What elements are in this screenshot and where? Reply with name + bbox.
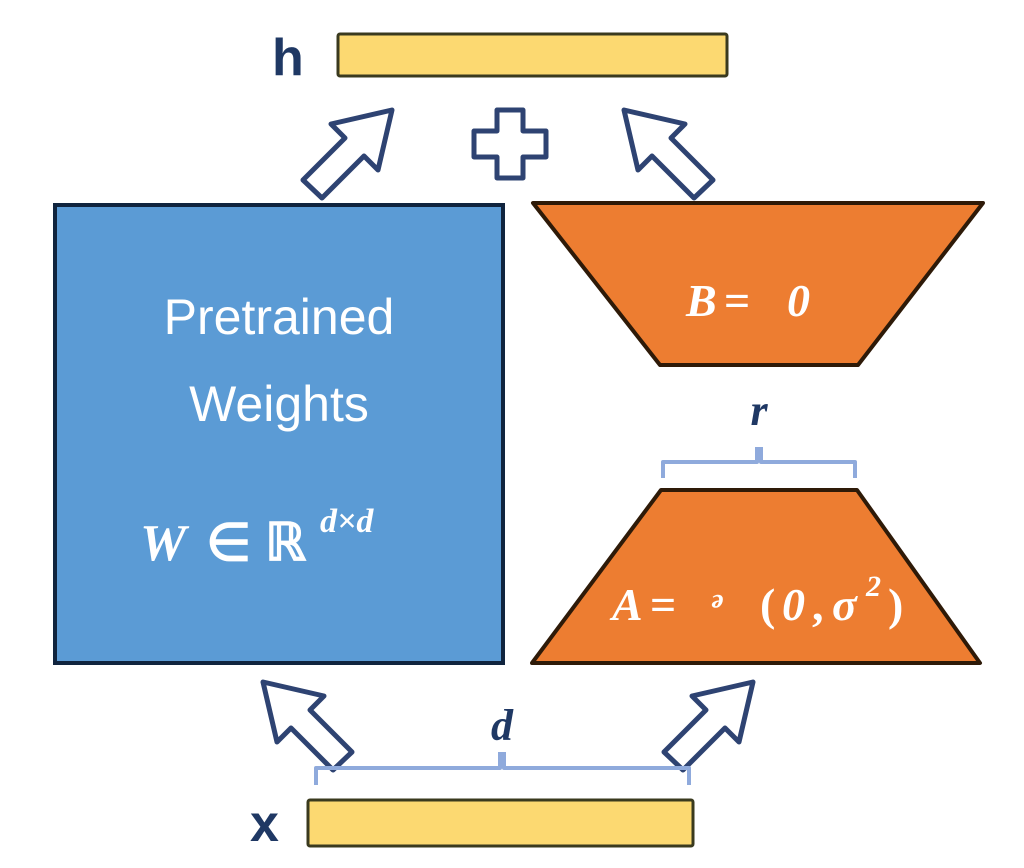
input-dimension-label: d <box>491 701 514 750</box>
arrow-input-to-a-icon <box>664 682 753 770</box>
matrix-a-trapezoid <box>532 490 980 663</box>
matrix-a-distribution-symbol: ᵊ <box>710 579 723 630</box>
matrix-b-variable: B <box>685 275 717 326</box>
matrix-a-sigma: σ <box>832 579 858 630</box>
lora-architecture-diagram: h Pretrained Weights W ∈ ℝ d×d B = 0 <box>0 0 1024 868</box>
matrix-a-variable: A <box>609 579 643 630</box>
arrow-pretrained-to-output-icon <box>303 110 392 198</box>
formula-variable-w: W <box>140 515 190 572</box>
pretrained-weights-line2: Weights <box>189 376 369 432</box>
matrix-b-value: 0 <box>787 275 810 326</box>
input-vector-label: x <box>250 795 279 853</box>
matrix-a-equals: = <box>650 579 676 630</box>
formula-real-set-symbol: ℝ <box>265 515 307 572</box>
matrix-a-comma: , <box>812 579 824 630</box>
matrix-a-open-paren: ( <box>760 579 775 630</box>
rank-dimension-brace-icon <box>663 447 855 478</box>
arrow-b-to-output-icon <box>624 110 713 198</box>
hidden-output-vector-bar <box>338 34 727 76</box>
matrix-b-formula: B = 0 <box>685 275 810 326</box>
pretrained-weights-block <box>55 205 503 663</box>
formula-exponent: d×d <box>320 503 374 540</box>
diagram-canvas: h Pretrained Weights W ∈ ℝ d×d B = 0 <box>0 0 1024 868</box>
matrix-b-trapezoid <box>533 203 983 365</box>
formula-member-symbol: ∈ <box>206 515 251 572</box>
arrow-input-to-pretrained-icon <box>263 682 352 770</box>
plus-operator-icon <box>474 110 546 178</box>
pretrained-weights-line1: Pretrained <box>164 289 395 345</box>
output-vector-label: h <box>272 29 304 87</box>
input-vector-bar <box>308 800 693 846</box>
input-dimension-brace-icon <box>316 752 689 785</box>
matrix-a-sigma-exponent: 2 <box>865 570 881 603</box>
matrix-b-equals: = <box>724 275 750 326</box>
matrix-a-mean: 0 <box>782 579 805 630</box>
rank-dimension-label: r <box>750 386 768 435</box>
matrix-a-close-paren: ) <box>888 579 903 630</box>
